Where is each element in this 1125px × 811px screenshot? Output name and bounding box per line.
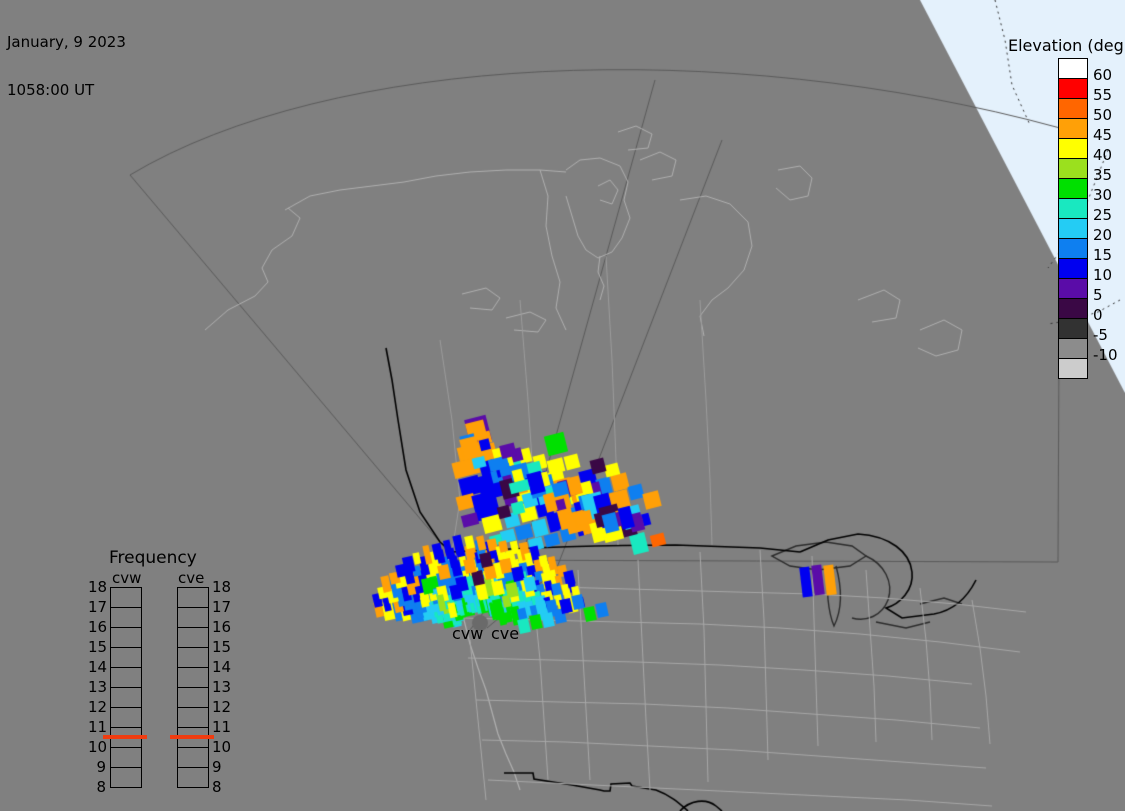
- site-label-cvw: cvw: [452, 624, 483, 643]
- frequency-tick-cve-16: 16: [212, 620, 232, 635]
- radar-map-screenshot: January, 9 2023 1058:00 UT Elevation (de…: [0, 0, 1125, 811]
- frequency-tick-cvw-17: 17: [88, 600, 106, 615]
- frequency-tick-cvw-18: 18: [88, 580, 106, 595]
- frequency-tick-cve-18: 18: [212, 580, 232, 595]
- frequency-marker-cvw: [103, 735, 147, 739]
- frequency-scale-cve: [177, 587, 209, 788]
- elevation-swatch-14: -10: [1059, 338, 1087, 358]
- frequency-tick-cve-17: 17: [212, 600, 232, 615]
- frequency-tick-cve-11: 11: [212, 720, 232, 735]
- frequency-cell-cve-3: [178, 647, 208, 667]
- elevation-tick-35: 35: [1093, 168, 1112, 183]
- elevation-swatch-5: 35: [1059, 158, 1087, 178]
- elevation-tick--5: -5: [1093, 328, 1108, 343]
- frequency-cell-cvw-9: [111, 767, 141, 787]
- frequency-cell-cve-6: [178, 707, 208, 727]
- elevation-swatch-11: 5: [1059, 278, 1087, 298]
- elevation-tick-5: 5: [1093, 288, 1103, 303]
- frequency-cell-cvw-8: [111, 747, 141, 767]
- frequency-tick-cvw-15: 15: [88, 640, 106, 655]
- frequency-tick-cve-10: 10: [212, 740, 232, 755]
- elevation-swatch-6: 30: [1059, 178, 1087, 198]
- elevation-tick-20: 20: [1093, 228, 1112, 243]
- timestamp: January, 9 2023 1058:00 UT: [7, 2, 126, 130]
- elevation-swatch-13: -5: [1059, 318, 1087, 338]
- frequency-tick-cve-14: 14: [212, 660, 232, 675]
- frequency-cell-cve-4: [178, 667, 208, 687]
- elevation-tick-40: 40: [1093, 148, 1112, 163]
- frequency-cell-cve-8: [178, 747, 208, 767]
- frequency-cell-cve-9: [178, 767, 208, 787]
- elevation-tick-0: 0: [1093, 308, 1103, 323]
- frequency-tick-cve-12: 12: [212, 700, 232, 715]
- elevation-tick-50: 50: [1093, 108, 1112, 123]
- elevation-legend-title: Elevation (deg): [1008, 36, 1125, 55]
- elevation-tick-45: 45: [1093, 128, 1112, 143]
- frequency-cell-cvw-4: [111, 667, 141, 687]
- elevation-tick--10: -10: [1093, 348, 1118, 363]
- frequency-cell-cve-0: [178, 588, 208, 607]
- elevation-tick-60: 60: [1093, 68, 1112, 83]
- frequency-tick-cve-13: 13: [212, 680, 232, 695]
- elevation-swatch-9: 15: [1059, 238, 1087, 258]
- elevation-swatch-10: 10: [1059, 258, 1087, 278]
- elevation-swatch-0: 60: [1059, 59, 1087, 78]
- elevation-colorbar: 605550454035302520151050-5-10: [1058, 58, 1088, 379]
- elevation-swatch-3: 45: [1059, 118, 1087, 138]
- frequency-tick-cvw-10: 10: [88, 740, 106, 755]
- frequency-cell-cvw-1: [111, 607, 141, 627]
- frequency-legend: Frequency cvw cve 1817161514131211109818…: [88, 548, 233, 778]
- frequency-tick-cvw-14: 14: [88, 660, 106, 675]
- frequency-cell-cvw-2: [111, 627, 141, 647]
- elevation-swatch-8: 20: [1059, 218, 1087, 238]
- elevation-swatch-1: 55: [1059, 78, 1087, 98]
- timestamp-time: 1058:00 UT: [7, 82, 126, 98]
- elevation-tick-25: 25: [1093, 208, 1112, 223]
- elevation-tick-10: 10: [1093, 268, 1112, 283]
- elevation-swatch-2: 50: [1059, 98, 1087, 118]
- frequency-cell-cvw-5: [111, 687, 141, 707]
- frequency-cell-cve-1: [178, 607, 208, 627]
- frequency-tick-cve-15: 15: [212, 640, 232, 655]
- frequency-tick-cvw-9: 9: [88, 760, 106, 775]
- elevation-swatch-15: [1059, 358, 1087, 378]
- site-label-cve: cve: [491, 624, 519, 643]
- frequency-tick-cvw-13: 13: [88, 680, 106, 695]
- frequency-scale-cvw: [110, 587, 142, 788]
- elevation-tick-30: 30: [1093, 188, 1112, 203]
- frequency-tick-cvw-8: 8: [88, 780, 106, 795]
- elevation-swatch-4: 40: [1059, 138, 1087, 158]
- frequency-marker-cve: [170, 735, 214, 739]
- frequency-column-header-cvw: cvw: [112, 569, 141, 587]
- frequency-tick-cve-8: 8: [212, 780, 232, 795]
- frequency-cell-cvw-6: [111, 707, 141, 727]
- frequency-legend-title: Frequency: [109, 548, 197, 568]
- elevation-tick-15: 15: [1093, 248, 1112, 263]
- frequency-cell-cvw-3: [111, 647, 141, 667]
- frequency-cell-cvw-0: [111, 588, 141, 607]
- frequency-cell-cve-2: [178, 627, 208, 647]
- frequency-tick-cvw-12: 12: [88, 700, 106, 715]
- frequency-cell-cve-5: [178, 687, 208, 707]
- elevation-swatch-7: 25: [1059, 198, 1087, 218]
- timestamp-date: January, 9 2023: [7, 34, 126, 50]
- frequency-tick-cve-9: 9: [212, 760, 232, 775]
- frequency-tick-cvw-11: 11: [88, 720, 106, 735]
- frequency-tick-cvw-16: 16: [88, 620, 106, 635]
- elevation-swatch-12: 0: [1059, 298, 1087, 318]
- frequency-column-header-cve: cve: [178, 569, 204, 587]
- elevation-tick-55: 55: [1093, 88, 1112, 103]
